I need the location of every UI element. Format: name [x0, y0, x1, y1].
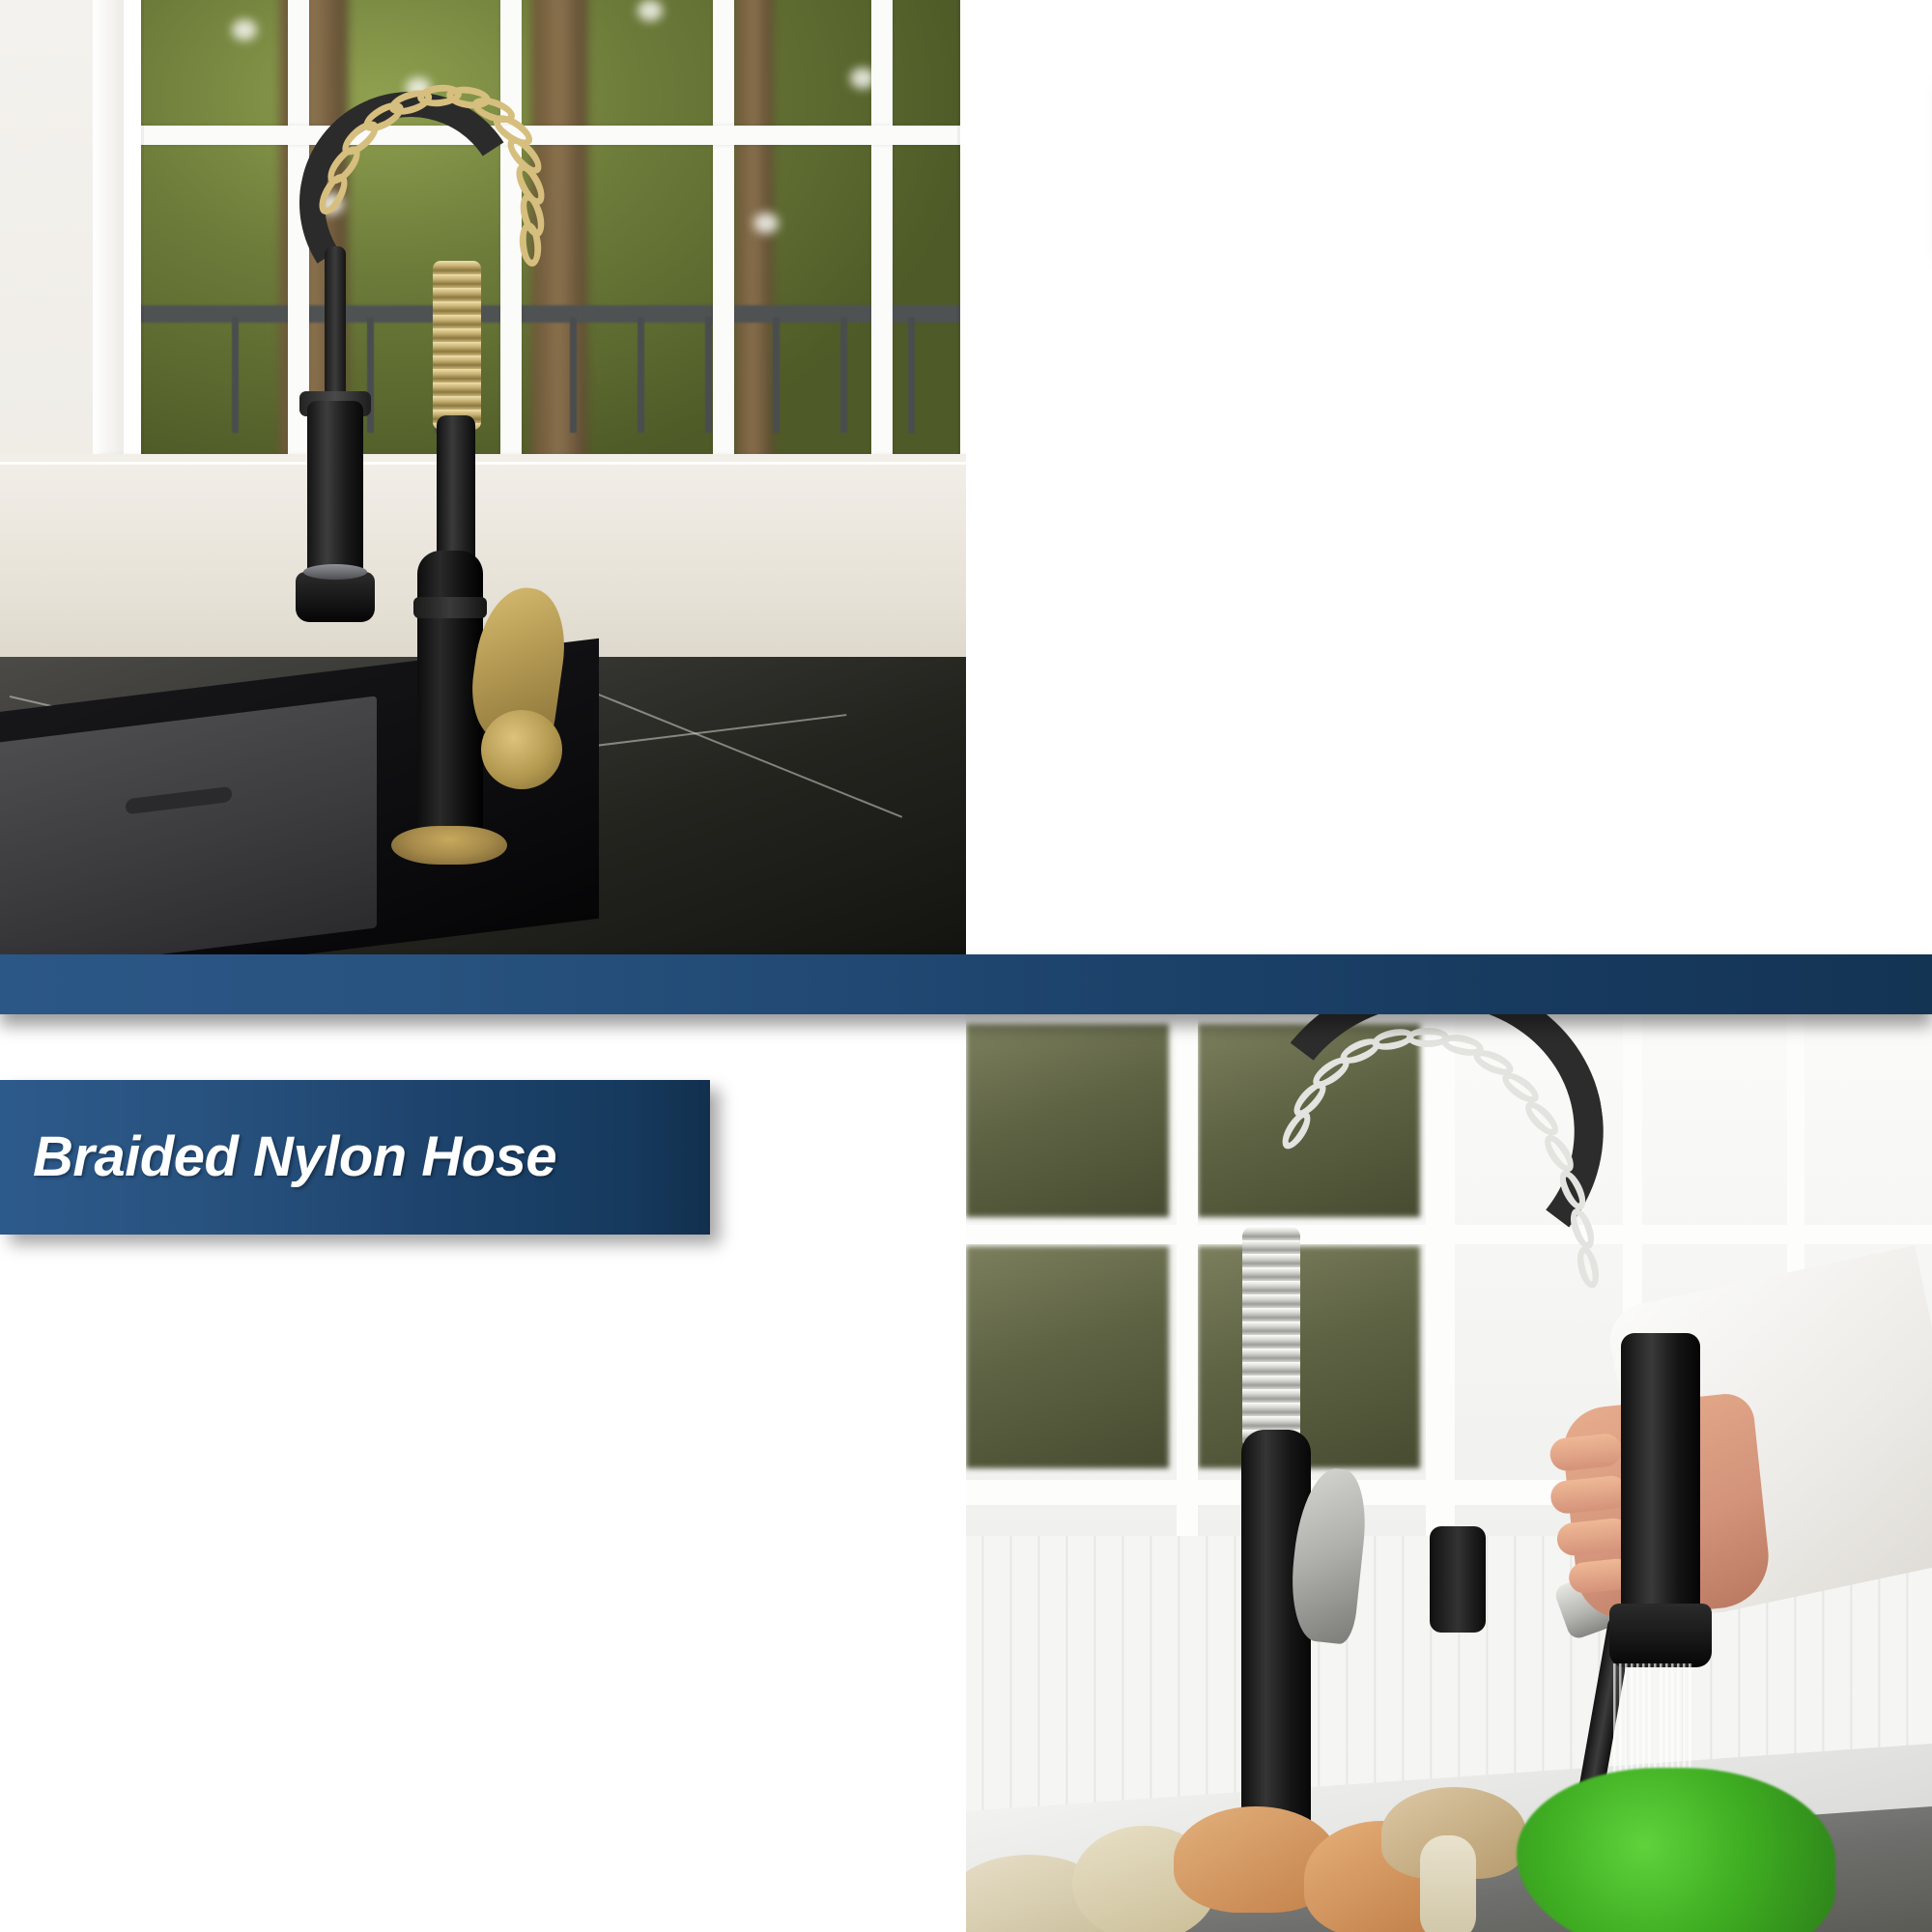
cutting-board — [0, 696, 377, 954]
sprayer-rinsing-produce-photo — [966, 1014, 1932, 1932]
faucet-handle-hub — [481, 710, 562, 789]
top-right-text-panel: High Arc Coiled Spout Style and Function… — [966, 0, 1932, 954]
herb-bunch — [1517, 1768, 1835, 1932]
faucet-spring-coil — [1242, 1227, 1300, 1449]
faucet-window-photo — [0, 0, 966, 954]
faucet-neck — [437, 415, 475, 570]
braided-nylon-hose-banner: Braided Nylon Hose — [0, 1080, 710, 1235]
window-jamb — [93, 0, 124, 491]
sprayer-wand — [307, 401, 363, 584]
sprayer-head — [296, 572, 375, 622]
faucet-braided-hose — [325, 246, 346, 411]
banner-text: Braided Nylon Hose — [0, 1129, 556, 1185]
sprayer-head — [1609, 1604, 1712, 1667]
product-feature-infographic: High Arc Coiled Spout Style and Function… — [0, 0, 1932, 1932]
faucet-collar — [413, 597, 487, 618]
mushroom-stem — [1420, 1835, 1476, 1932]
faucet-gold-spring — [433, 261, 481, 430]
hose-clip — [1430, 1526, 1486, 1633]
faucet-body — [1241, 1430, 1311, 1835]
section-divider-bar — [0, 954, 1932, 1014]
faucet-base-escutcheon — [391, 826, 507, 865]
